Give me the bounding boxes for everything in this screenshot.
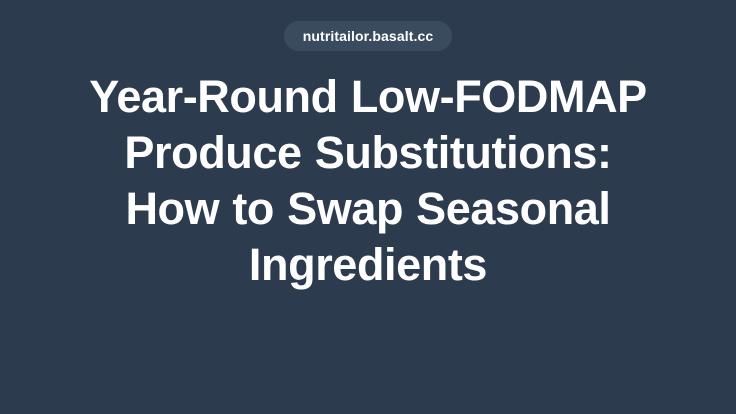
domain-badge: nutritailor.basalt.cc xyxy=(284,21,452,51)
headline-container: Year-Round Low-FODMAP Produce Substituti… xyxy=(88,69,648,293)
page-title: Year-Round Low-FODMAP Produce Substituti… xyxy=(88,69,648,293)
social-share-card: nutritailor.basalt.cc Year-Round Low-FOD… xyxy=(0,0,736,414)
domain-badge-label: nutritailor.basalt.cc xyxy=(303,29,433,43)
